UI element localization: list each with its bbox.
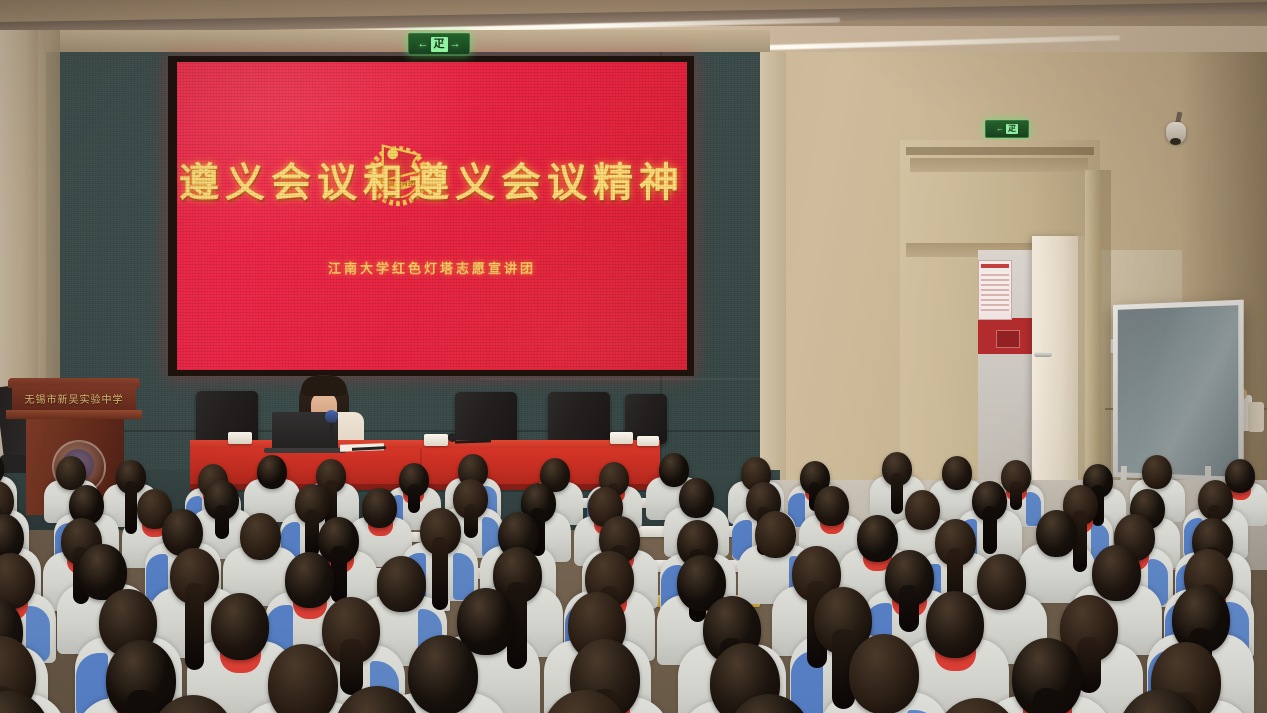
student-ponytail xyxy=(891,473,903,514)
student-head xyxy=(1036,510,1077,557)
student-ponytail xyxy=(215,505,229,539)
student-ponytail xyxy=(185,583,205,670)
emergency-exit-sign: ← 疋 xyxy=(985,120,1029,138)
arrow-right-icon: → xyxy=(450,39,461,50)
student-ponytail xyxy=(899,585,919,633)
student-ponytail xyxy=(1010,481,1022,510)
audience-area xyxy=(0,440,1267,713)
student-head xyxy=(755,511,796,558)
led-presentation-screen[interactable]: 中国共青团 遵义会议和遵义会议精神 江南大学红色灯塔志愿宣讲团 xyxy=(177,62,687,370)
student-head xyxy=(408,635,478,713)
running-man-icon: 疋 xyxy=(431,37,448,52)
lecture-hall-photo: 中国共青团 遵义会议和遵义会议精神 江南大学红色灯塔志愿宣讲团 ← 疋 → ← … xyxy=(0,0,1267,713)
corridor-poster xyxy=(978,260,1012,320)
student-head xyxy=(814,486,849,526)
door-header xyxy=(906,147,1094,155)
student-head xyxy=(1142,455,1172,489)
student-ponytail xyxy=(125,481,137,534)
student-head xyxy=(240,513,281,560)
presenter-fringe xyxy=(301,376,347,396)
student-head xyxy=(285,552,334,608)
student-head xyxy=(1092,545,1141,601)
student-ponytail xyxy=(464,504,478,538)
corridor-wall-panel xyxy=(996,330,1020,348)
student-head xyxy=(211,593,269,660)
door-groove xyxy=(910,158,1088,172)
podium-label: 无锡市新吴实验中学 xyxy=(12,391,136,406)
student-head xyxy=(905,490,940,530)
led-pixel-grid xyxy=(177,62,687,370)
microphone-icon[interactable] xyxy=(325,410,338,423)
student-head xyxy=(857,515,898,562)
door-handle-icon[interactable] xyxy=(1034,352,1052,357)
student-head xyxy=(377,556,426,612)
student-ponytail xyxy=(305,509,319,557)
student-head xyxy=(977,554,1026,610)
stage-frame-top xyxy=(0,30,770,52)
student-head xyxy=(942,456,972,490)
student-head xyxy=(679,478,714,518)
student-head xyxy=(926,591,984,658)
student-ponytail xyxy=(1033,688,1061,713)
student-ponytail xyxy=(432,537,448,610)
student-ponytail xyxy=(408,484,420,513)
emergency-exit-sign: ← 疋 → xyxy=(408,33,470,55)
student-ponytail xyxy=(983,506,997,554)
student-ponytail xyxy=(340,639,363,696)
podium-lip xyxy=(6,410,142,419)
shelf-item xyxy=(1248,402,1264,432)
student-head xyxy=(362,488,397,528)
poster-lines xyxy=(981,273,1009,311)
poster-header xyxy=(981,264,1009,268)
running-man-icon: 疋 xyxy=(1006,124,1018,134)
arrow-left-icon: ← xyxy=(996,125,1004,133)
arrow-left-icon: ← xyxy=(418,39,429,50)
podium-nameboard: 无锡市新吴实验中学 xyxy=(12,386,136,412)
student-head xyxy=(849,634,919,713)
student-ponytail xyxy=(127,690,155,713)
student-head xyxy=(257,455,287,489)
stage-chair[interactable] xyxy=(548,392,610,444)
stage-chair[interactable] xyxy=(455,392,517,444)
wall-seam xyxy=(480,378,760,380)
camera-lens xyxy=(1170,138,1181,145)
